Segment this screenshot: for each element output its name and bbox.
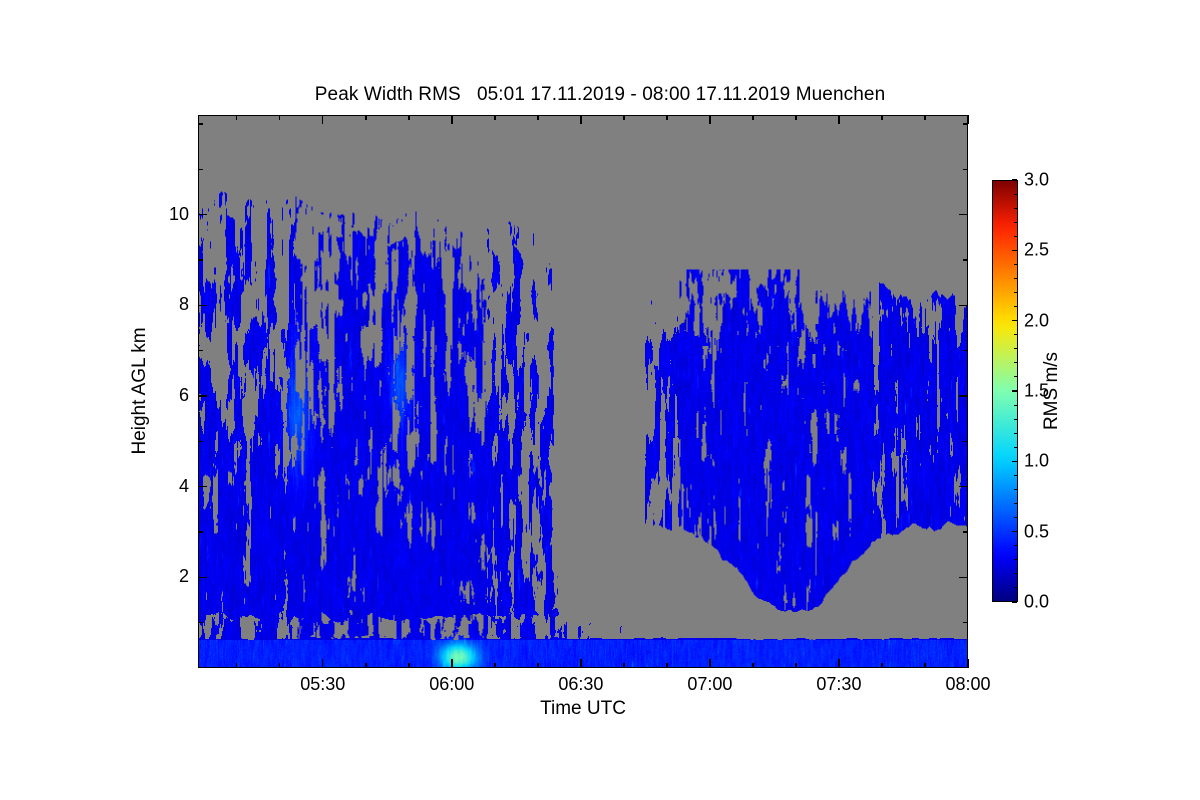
x-tick-label: 08:00 [945, 674, 990, 695]
x-axis-minor-tick [236, 663, 238, 668]
y-axis-minor-tick [198, 259, 203, 261]
y-axis-label: Height AGL km [129, 327, 151, 454]
x-axis-tick [838, 115, 840, 124]
x-axis-minor-tick [795, 663, 797, 668]
y-tick-label: 4 [179, 476, 189, 497]
colorbar-minor-tick [1014, 405, 1017, 406]
x-axis-tick [580, 115, 582, 124]
colorbar-minor-tick [1014, 208, 1017, 209]
y-axis-minor-tick [198, 123, 203, 125]
x-tick-label: 07:30 [816, 674, 861, 695]
x-tick-label: 05:30 [300, 674, 345, 695]
colorbar-minor-tick [1014, 475, 1017, 476]
colorbar-minor-tick [1014, 362, 1017, 363]
x-axis-minor-tick [666, 663, 668, 668]
colorbar-minor-tick [1014, 194, 1017, 195]
colorbar-minor-tick [1014, 573, 1017, 574]
x-axis-minor-tick [537, 115, 539, 120]
y-axis-minor-tick [198, 531, 203, 533]
y-axis-minor-tick [198, 169, 203, 171]
colorbar-minor-tick [1014, 433, 1017, 434]
y-axis-minor-tick [963, 350, 968, 352]
y-axis-minor-tick [198, 441, 203, 443]
colorbar-tick-label: 2.5 [1024, 240, 1049, 261]
x-axis-minor-tick [494, 115, 496, 120]
colorbar-minor-tick [1014, 306, 1017, 307]
y-axis-tick [198, 305, 207, 307]
colorbar-minor-tick [1014, 348, 1017, 349]
y-axis-minor-tick [198, 350, 203, 352]
y-tick-label: 10 [169, 204, 189, 225]
y-axis-tick [959, 486, 968, 488]
x-axis-minor-tick [881, 115, 883, 120]
x-axis-minor-tick [537, 663, 539, 668]
colorbar-minor-tick [1014, 545, 1017, 546]
y-axis-tick [198, 577, 207, 579]
colorbar-tick [1012, 601, 1017, 603]
x-axis-minor-tick [623, 663, 625, 668]
heatmap-data-layer [199, 116, 967, 667]
y-axis-minor-tick [963, 123, 968, 125]
x-tick-label: 06:00 [429, 674, 474, 695]
colorbar-minor-tick [1014, 222, 1017, 223]
x-axis-tick [709, 659, 711, 668]
x-axis-minor-tick [924, 663, 926, 668]
x-axis-minor-tick [752, 663, 754, 668]
x-axis-label: Time UTC [198, 698, 968, 720]
colorbar-minor-tick [1014, 447, 1017, 448]
x-axis-minor-tick [236, 115, 238, 120]
y-axis-minor-tick [198, 622, 203, 624]
x-axis-minor-tick [408, 115, 410, 120]
y-axis-minor-tick [963, 259, 968, 261]
colorbar-minor-tick [1014, 334, 1017, 335]
colorbar-minor-tick [1014, 489, 1017, 490]
colorbar-tick-label: 3.0 [1024, 170, 1049, 191]
y-tick-label: 6 [179, 385, 189, 406]
colorbar-label: RMS m/s [1041, 352, 1063, 430]
y-axis-minor-tick [963, 531, 968, 533]
y-tick-label: 8 [179, 294, 189, 315]
x-axis-minor-tick [666, 115, 668, 120]
colorbar-tick-label: 2.0 [1024, 310, 1049, 331]
y-axis-tick [198, 395, 207, 397]
y-axis-minor-tick [963, 622, 968, 624]
colorbar-minor-tick [1014, 419, 1017, 420]
y-axis-tick [959, 305, 968, 307]
colorbar-tick [1012, 179, 1017, 181]
y-axis-tick [959, 577, 968, 579]
x-axis-tick [580, 659, 582, 668]
y-axis-tick [959, 214, 968, 216]
x-axis-minor-tick [279, 115, 281, 120]
colorbar-minor-tick [1014, 278, 1017, 279]
colorbar-minor-tick [1014, 587, 1017, 588]
x-axis-minor-tick [365, 663, 367, 668]
y-tick-label: 2 [179, 566, 189, 587]
colorbar-tick [1012, 531, 1017, 533]
colorbar-minor-tick [1014, 503, 1017, 504]
colorbar-tick-label: 0.5 [1024, 521, 1049, 542]
x-axis-minor-tick [623, 115, 625, 120]
x-axis-tick [838, 659, 840, 668]
figure-canvas: Peak Width RMS 05:01 17.11.2019 - 08:00 … [0, 0, 1200, 800]
colorbar-tick-label: 0.0 [1024, 592, 1049, 613]
x-axis-tick [709, 115, 711, 124]
x-axis-minor-tick [494, 663, 496, 668]
colorbar-tick [1012, 461, 1017, 463]
x-axis-minor-tick [279, 663, 281, 668]
y-axis-tick [198, 214, 207, 216]
colorbar-tick [1012, 250, 1017, 252]
x-axis-minor-tick [881, 663, 883, 668]
y-axis-minor-tick [963, 169, 968, 171]
x-axis-tick [322, 659, 324, 668]
x-axis-minor-tick [795, 115, 797, 120]
x-axis-tick [451, 659, 453, 668]
x-axis-tick [967, 659, 969, 668]
x-axis-minor-tick [365, 115, 367, 120]
y-axis-minor-tick [963, 441, 968, 443]
colorbar-tick [1012, 320, 1017, 322]
colorbar-minor-tick [1014, 559, 1017, 560]
colorbar-tick-label: 1.0 [1024, 451, 1049, 472]
colorbar-minor-tick [1014, 236, 1017, 237]
y-axis-tick [959, 395, 968, 397]
x-axis-tick [451, 115, 453, 124]
page-title: Peak Width RMS 05:01 17.11.2019 - 08:00 … [0, 84, 1200, 106]
x-axis-tick [322, 115, 324, 124]
colorbar-tick [1012, 390, 1017, 392]
x-axis-minor-tick [752, 115, 754, 120]
heatmap-plot-area[interactable] [198, 115, 968, 668]
colorbar-minor-tick [1014, 376, 1017, 377]
x-axis-minor-tick [924, 115, 926, 120]
x-tick-label: 07:00 [687, 674, 732, 695]
x-tick-label: 06:30 [558, 674, 603, 695]
colorbar-minor-tick [1014, 292, 1017, 293]
colorbar-minor-tick [1014, 264, 1017, 265]
y-axis-tick [198, 486, 207, 488]
x-axis-minor-tick [408, 663, 410, 668]
colorbar-minor-tick [1014, 517, 1017, 518]
